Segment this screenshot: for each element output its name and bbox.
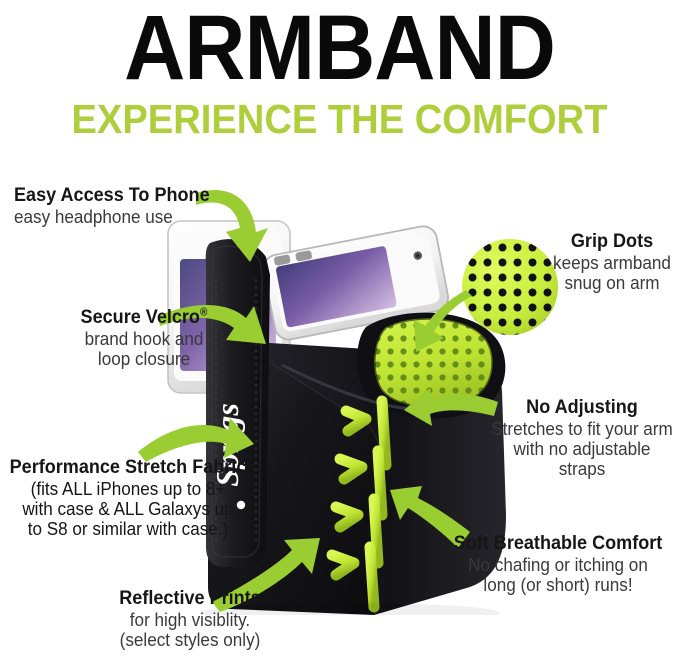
- callout-line: for high visiblity.: [78, 610, 302, 630]
- callout-secure-velcro: Secure Velcro® brand hook and loop closu…: [44, 308, 244, 369]
- callout-title-text: Secure Velcro: [81, 307, 200, 328]
- callout-line: No chafing or itching on: [444, 555, 672, 575]
- callout-line: snug on arm: [551, 273, 673, 293]
- callout-line: with case & ALL Galaxys up: [8, 499, 247, 519]
- callout-title: No Adjusting: [491, 398, 673, 419]
- callout-line: to S8 or similar with case.): [8, 519, 247, 539]
- callout-line: keeps armband: [551, 253, 673, 273]
- callout-title: Easy Access To Phone: [14, 186, 252, 207]
- callout-no-adjusting: No Adjusting Stretches to fit your arm w…: [486, 398, 678, 479]
- infographic-root: ARMBAND EXPERIENCE THE COMFORT: [0, 0, 679, 664]
- callout-reflective-prints: Reflective Prints for high visiblity. (s…: [72, 589, 308, 650]
- callout-line: easy headphone use: [14, 207, 252, 227]
- callout-title: Grip Dots: [551, 232, 673, 253]
- callout-soft-comfort: Soft Breathable Comfort No chafing or it…: [438, 534, 678, 595]
- header: ARMBAND EXPERIENCE THE COMFORT: [0, 0, 679, 140]
- callout-easy-access: Easy Access To Phone easy headphone use: [14, 186, 264, 227]
- callout-line: long (or short) runs!: [444, 575, 672, 595]
- callout-line: (fits ALL iPhones up to 8+: [8, 479, 247, 499]
- page-subtitle: EXPERIENCE THE COMFORT: [24, 99, 655, 140]
- page-title: ARMBAND: [27, 0, 652, 91]
- callout-stretch-fabric: Performance Stretch Fabric (fits ALL iPh…: [2, 458, 254, 539]
- registered-trademark-icon: ®: [200, 307, 207, 319]
- callout-line: loop closure: [49, 349, 239, 369]
- callout-line: with no adjustable straps: [491, 439, 673, 479]
- callout-title: Soft Breathable Comfort: [444, 534, 672, 555]
- callout-title: Performance Stretch Fabric: [8, 458, 247, 479]
- callout-line: (select styles only): [78, 630, 302, 650]
- callout-grip-dots: Grip Dots keeps armband snug on arm: [548, 232, 676, 293]
- callout-title: Secure Velcro®: [49, 308, 239, 329]
- callout-line: brand hook and: [49, 329, 239, 349]
- callout-line: Stretches to fit your arm: [491, 419, 673, 439]
- callout-title: Reflective Prints: [78, 589, 302, 610]
